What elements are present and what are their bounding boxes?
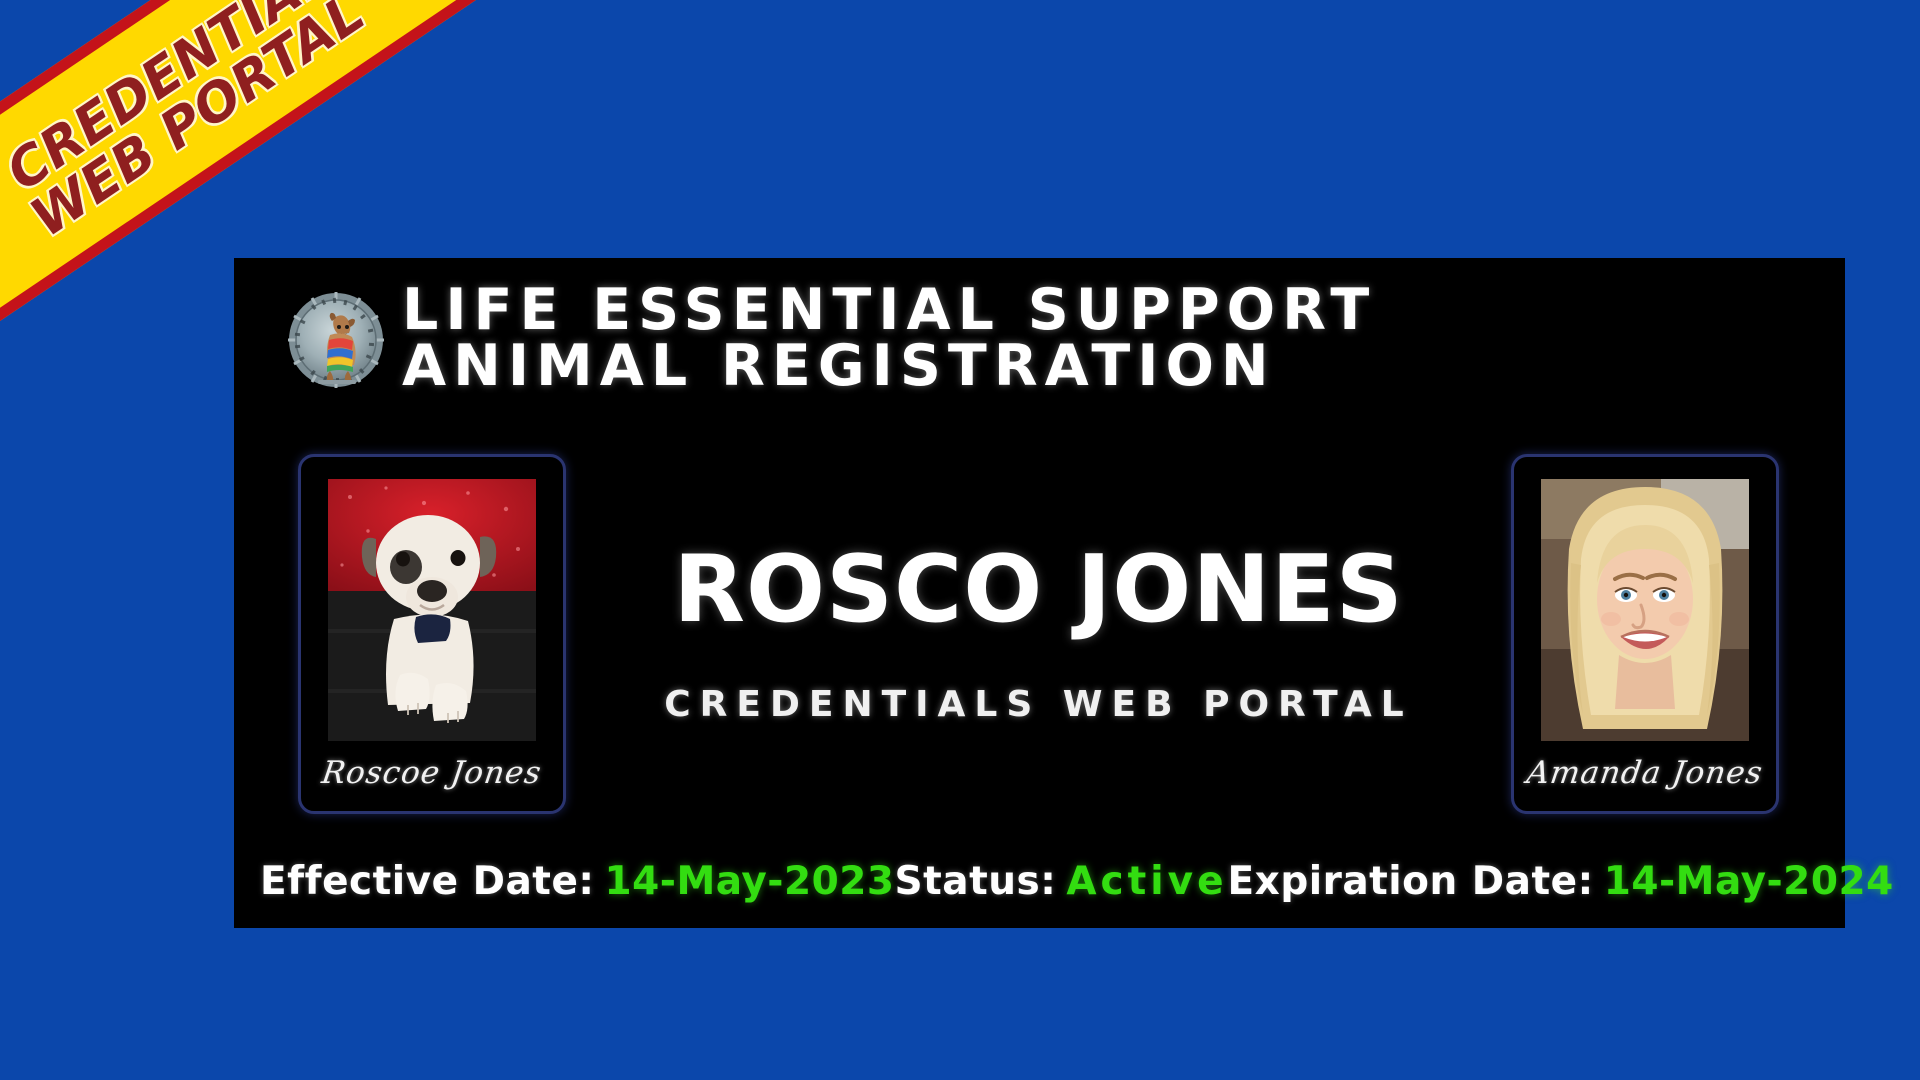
credential-card: LIFE ESSENTIAL SUPPORT ANIMAL REGISTRATI… (234, 258, 1845, 928)
status-bar: Effective Date: 14-May-2023 Status: Acti… (234, 859, 1845, 904)
organization-seal-icon (284, 288, 388, 392)
handler-photo (1541, 479, 1749, 741)
credential-center-block: ROSCO JONES CREDENTIALS WEB PORTAL (566, 454, 1511, 814)
effective-date-item: Effective Date: 14-May-2023 (260, 859, 895, 904)
ribbon-text: CREDENTIAL WEB PORTAL (0, 0, 374, 246)
card-header: LIFE ESSENTIAL SUPPORT ANIMAL REGISTRATI… (284, 282, 1376, 399)
organization-title: LIFE ESSENTIAL SUPPORT ANIMAL REGISTRATI… (402, 282, 1376, 399)
card-body: Roscoe Jones ROSCO JONES CREDENTIALS WEB… (234, 454, 1845, 824)
portal-subtitle: CREDENTIALS WEB PORTAL (664, 684, 1412, 725)
expiration-date-value: 14-May-2024 (1604, 859, 1894, 904)
effective-date-value: 14-May-2023 (605, 859, 895, 904)
status-label: Status: (895, 859, 1057, 904)
handler-signature: Amanda Jones (1525, 755, 1766, 791)
org-title-line-1: LIFE ESSENTIAL SUPPORT (402, 282, 1376, 338)
handler-photo-card: Amanda Jones (1511, 454, 1779, 814)
expiration-date-label: Expiration Date: (1228, 859, 1594, 904)
animal-photo (328, 479, 536, 741)
animal-signature: Roscoe Jones (320, 755, 545, 791)
holder-name: ROSCO JONES (673, 543, 1403, 636)
status-badge: Active (1066, 859, 1227, 904)
expiration-date-item: Expiration Date: 14-May-2024 (1228, 859, 1894, 904)
status-item: Status: Active (895, 859, 1228, 904)
org-title-line-2: ANIMAL REGISTRATION (402, 338, 1376, 394)
animal-photo-card: Roscoe Jones (298, 454, 566, 814)
effective-date-label: Effective Date: (260, 859, 595, 904)
